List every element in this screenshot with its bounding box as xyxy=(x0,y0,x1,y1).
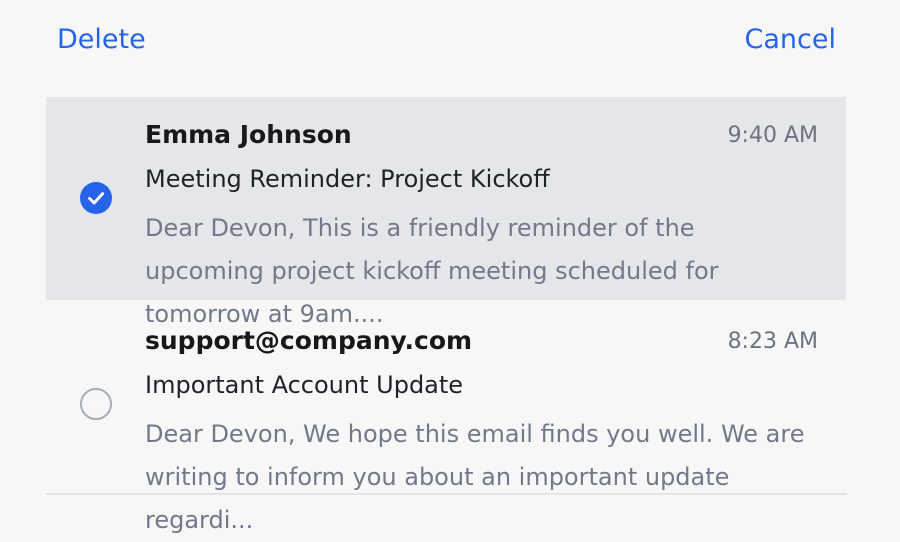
message-list: Emma Johnson 9:40 AM Meeting Reminder: P… xyxy=(0,80,900,526)
delete-button[interactable]: Delete xyxy=(57,26,146,53)
message-content: support@company.com 8:23 AM Important Ac… xyxy=(145,303,846,506)
message-list-item[interactable]: support@company.com 8:23 AM Important Ac… xyxy=(46,303,846,506)
message-list-item[interactable]: Emma Johnson 9:40 AM Meeting Reminder: P… xyxy=(46,97,846,300)
message-timestamp: 9:40 AM xyxy=(728,120,818,152)
message-select-checkbox-unchecked[interactable] xyxy=(80,388,112,420)
message-header-line: Emma Johnson 9:40 AM xyxy=(145,118,846,152)
list-divider xyxy=(46,493,847,495)
cancel-button[interactable]: Cancel xyxy=(745,26,836,53)
check-icon xyxy=(80,182,112,214)
message-timestamp: 8:23 AM xyxy=(728,326,818,358)
message-subject: Meeting Reminder: Project Kickoff xyxy=(145,163,550,195)
message-header-line: support@company.com 8:23 AM xyxy=(145,324,846,358)
message-content: Emma Johnson 9:40 AM Meeting Reminder: P… xyxy=(145,97,846,300)
message-subject: Important Account Update xyxy=(145,369,463,401)
message-sender: support@company.com xyxy=(145,324,472,358)
action-bar: Delete Cancel xyxy=(0,0,900,80)
message-sender: Emma Johnson xyxy=(145,118,352,152)
message-select-checkbox-checked[interactable] xyxy=(80,182,112,214)
message-preview: Dear Devon, We hope this email finds you… xyxy=(145,413,815,542)
